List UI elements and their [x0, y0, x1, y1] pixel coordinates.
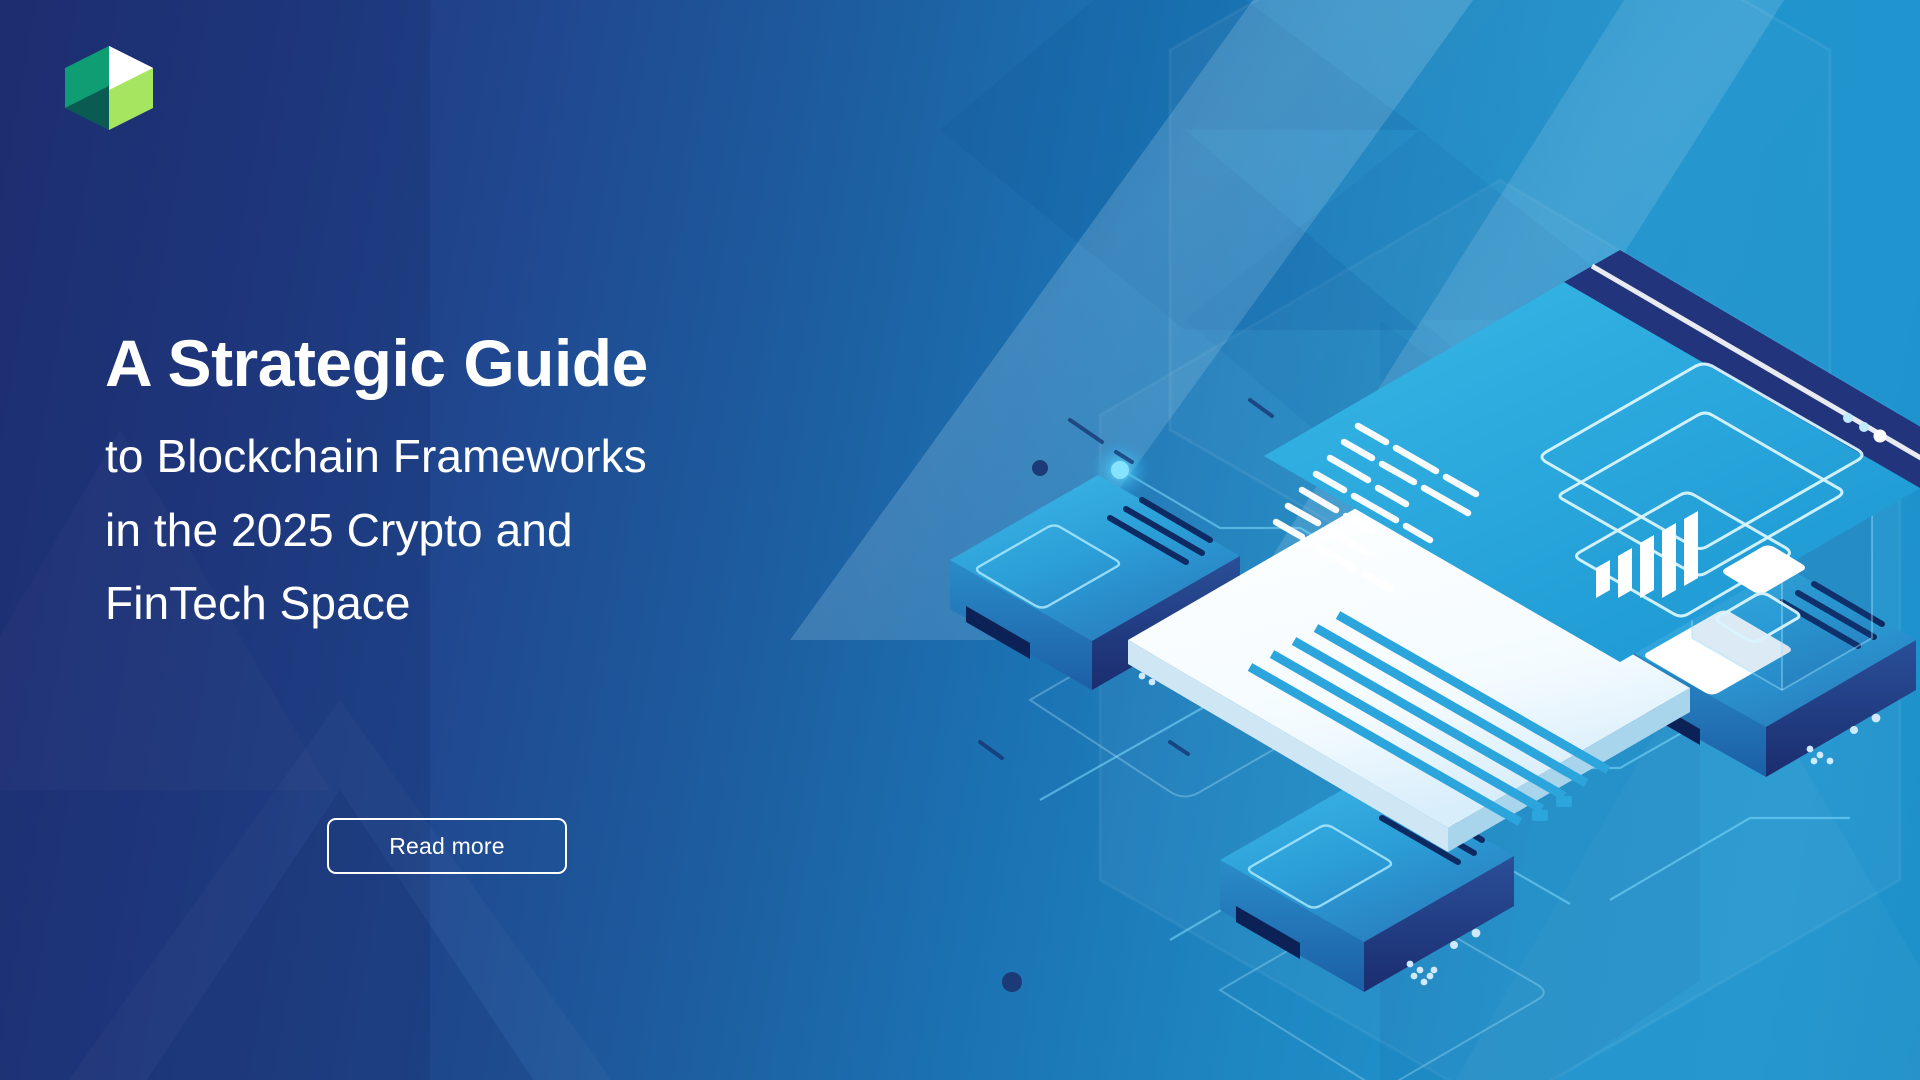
isometric-cube-icon	[57, 42, 161, 134]
subtitle-line-3: FinTech Space	[105, 567, 945, 641]
brand-logo[interactable]	[57, 42, 161, 134]
headline-block: A Strategic Guide to Blockchain Framewor…	[105, 330, 945, 641]
subtitle-line-1: to Blockchain Frameworks	[105, 420, 945, 494]
page-title-emphasis: A Strategic Guide	[105, 330, 945, 396]
isometric-blockchain-illustration	[920, 0, 1920, 1080]
read-more-button[interactable]: Read more	[327, 818, 567, 874]
hero-banner: A Strategic Guide to Blockchain Framewor…	[0, 0, 1920, 1080]
hero-content: A Strategic Guide to Blockchain Framewor…	[105, 0, 945, 1080]
subtitle-line-2: in the 2025 Crypto and	[105, 494, 945, 568]
page-subtitle: to Blockchain Frameworks in the 2025 Cry…	[105, 420, 945, 641]
laptop-device	[1128, 250, 1920, 852]
